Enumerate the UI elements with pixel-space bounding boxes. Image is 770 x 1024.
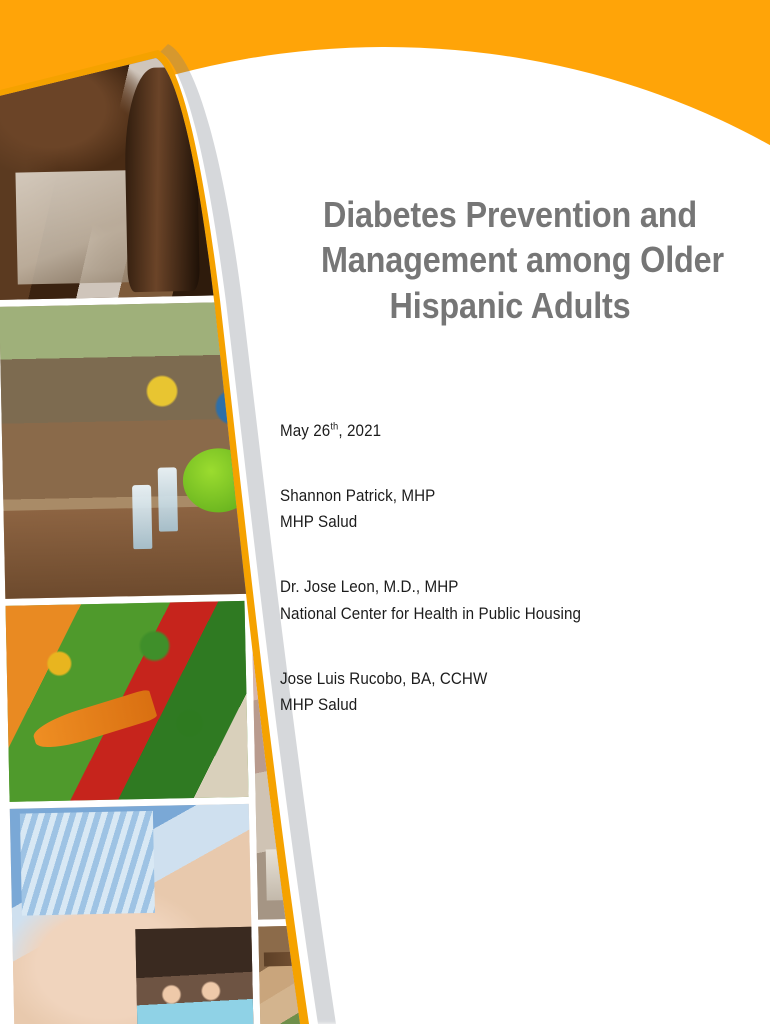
slide-body: May 26th, 2021 Shannon Patrick, MHP MHP … <box>280 418 666 719</box>
presenter-1-affiliation: MHP Salud <box>280 509 666 536</box>
title-line-3: Hispanic Adults <box>321 283 699 328</box>
water-bottle-shape <box>132 485 153 550</box>
presenter-2-affiliation: National Center for Health in Public Hou… <box>280 601 666 628</box>
presenter-1: Shannon Patrick, MHP MHP Salud <box>280 483 666 536</box>
water-bottle-shape <box>157 467 178 532</box>
presenter-3: Jose Luis Rucobo, BA, CCHW MHP Salud <box>280 666 666 719</box>
presenter-2-name: Dr. Jose Leon, M.D., MHP <box>280 574 666 601</box>
presentation-date: May 26th, 2021 <box>280 418 666 445</box>
title-line-2: Management among Older <box>321 237 699 282</box>
title-slide: Diabetes Prevention and Management among… <box>0 0 770 1024</box>
title-line-1: Diabetes Prevention and <box>321 192 699 237</box>
striped-sleeve-shape <box>19 811 155 916</box>
date-year: , 2021 <box>338 422 381 440</box>
presenter-3-name: Jose Luis Rucobo, BA, CCHW <box>280 666 666 693</box>
collage-photo-children-smiling <box>135 927 254 1024</box>
page-title: Diabetes Prevention and Management among… <box>321 192 699 328</box>
date-line: May 26th, 2021 <box>280 418 666 445</box>
date-month-day: May 26 <box>280 422 330 440</box>
collage-photo-fresh-vegetables <box>6 601 249 802</box>
presenter-3-affiliation: MHP Salud <box>280 692 666 719</box>
photo-highlight <box>16 170 152 285</box>
presenter-2: Dr. Jose Leon, M.D., MHP National Center… <box>280 574 666 627</box>
presenter-1-name: Shannon Patrick, MHP <box>280 483 666 510</box>
carrot-shape <box>30 688 158 755</box>
